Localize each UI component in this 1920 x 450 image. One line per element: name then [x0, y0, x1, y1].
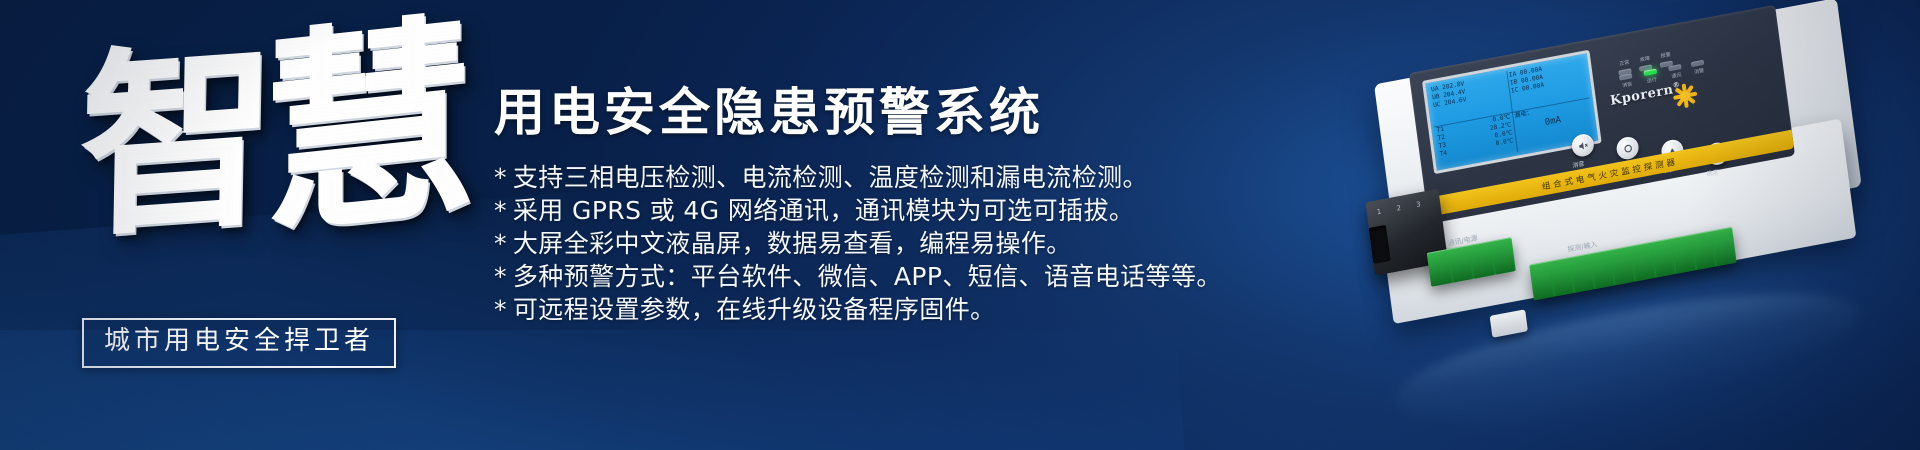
- feature-list: *支持三相电压检测、电流检测、温度检测和漏电流检测。 *采用 GPRS 或 4G…: [494, 161, 1324, 326]
- lcd-screen: UA 202.8V UB 204.4V UC 204.6V IA 00.00A …: [1422, 50, 1602, 174]
- bullet-marker: *: [494, 262, 507, 291]
- list-item: *多种预警方式：平台软件、微信、APP、短信、语音电话等等。: [494, 260, 1324, 293]
- led-label-normal: 正常: [1615, 58, 1634, 68]
- calligraphy-char-hui: 慧: [263, 10, 476, 248]
- text-column: 用电安全隐患预警系统 *支持三相电压检测、电流检测、温度检测和漏电流检测。 *采…: [494, 86, 1324, 326]
- sunburst-icon: [1671, 80, 1700, 111]
- bullet-marker: *: [494, 196, 507, 225]
- list-item: *支持三相电压检测、电流检测、温度检测和漏电流检测。: [494, 161, 1324, 194]
- feature-text: 采用 GPRS 或 4G 网络通讯，通讯模块为可选可插拔。: [513, 196, 1134, 225]
- page-title: 用电安全隐患预警系统: [494, 86, 1324, 142]
- lcd-temp-label-4: T4: [1439, 150, 1447, 159]
- promo-banner: 智 慧 城市用电安全捍卫者 用电安全隐患预警系统 *支持三相电压检测、电流检测、…: [0, 0, 1920, 450]
- connector-number-1: 1: [1376, 208, 1381, 217]
- reset-circle-icon: [1621, 142, 1633, 155]
- list-item: *可远程设置参数，在线升级设备程序固件。: [494, 293, 1324, 326]
- bullet-marker: *: [494, 229, 507, 258]
- list-item: *大屏全彩中文液晶屏，数据易查看，编程易操作。: [494, 227, 1324, 260]
- feature-text: 支持三相电压检测、电流检测、温度检测和漏电流检测。: [513, 163, 1148, 192]
- connector-number-3: 3: [1416, 200, 1421, 209]
- led-label-run: 运行: [1643, 75, 1662, 85]
- led-label-alarm: 报警: [1656, 50, 1675, 60]
- led-label-fault: 故障: [1636, 54, 1655, 64]
- feature-text: 大屏全彩中文液晶屏，数据易查看，编程易操作。: [513, 229, 1072, 258]
- tagline-text: 城市用电安全捍卫者: [104, 327, 374, 357]
- tagline-box: 城市用电安全捍卫者: [82, 318, 396, 368]
- bullet-marker: *: [494, 163, 507, 192]
- connector-slot: [1369, 225, 1390, 264]
- list-item: *采用 GPRS 或 4G 网络通讯，通讯模块为可选可插拔。: [494, 194, 1324, 227]
- led-label-clear: 消警: [1690, 66, 1709, 76]
- calligraphy-logo: 智 慧: [78, 18, 438, 288]
- led-label-mute: 消音: [1618, 80, 1637, 90]
- reset-button[interactable]: [1615, 135, 1640, 161]
- lcd-temp-value-4: 0.0℃: [1495, 137, 1514, 148]
- calligraphy-char-zhi: 智: [79, 37, 278, 247]
- connector-number-2: 2: [1396, 204, 1401, 213]
- bullet-marker: *: [494, 295, 507, 324]
- feature-text: 可远程设置参数，在线升级设备程序固件。: [513, 295, 996, 324]
- product-device-image: UA 202.8V UB 204.4V UC 204.6V IA 00.00A …: [1339, 0, 1920, 403]
- feature-text: 多种预警方式：平台软件、微信、APP、短信、语音电话等等。: [513, 262, 1222, 291]
- speaker-mute-icon: [1577, 139, 1589, 152]
- led-label-comm: 通讯: [1667, 70, 1686, 80]
